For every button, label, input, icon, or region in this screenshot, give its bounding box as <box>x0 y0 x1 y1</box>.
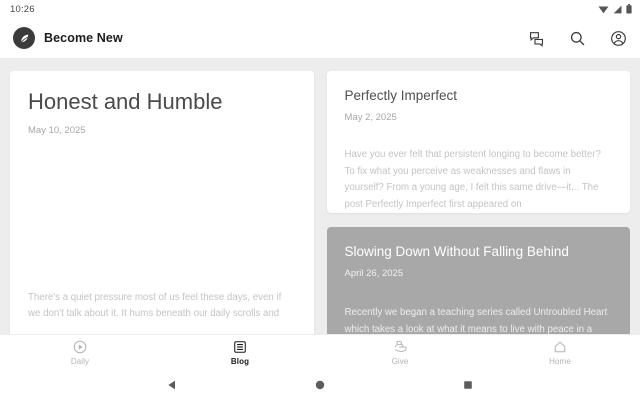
account-icon[interactable] <box>608 28 628 48</box>
post-excerpt-text: Have you ever felt that persistent longi… <box>345 147 613 213</box>
chat-icon[interactable] <box>526 28 546 48</box>
post-date: April 26, 2025 <box>345 268 613 279</box>
brand[interactable]: Become New <box>13 27 123 49</box>
status-bar-clock: 10:26 <box>10 4 35 15</box>
post-title: Slowing Down Without Falling Behind <box>345 244 613 261</box>
home-button[interactable] <box>314 379 326 391</box>
post-card-secondary[interactable]: Perfectly Imperfect May 2, 2025 Have you… <box>327 71 631 213</box>
tab-give[interactable]: Give <box>320 335 480 370</box>
post-excerpt: There's a quiet pressure most of us feel… <box>28 290 296 323</box>
tab-blog[interactable]: Blog <box>160 335 320 370</box>
signal-icon <box>613 5 622 14</box>
play-circle-icon <box>73 340 87 355</box>
app-bar: Become New <box>0 18 640 59</box>
post-excerpt-text: There's a quiet pressure most of us feel… <box>28 290 296 323</box>
giving-hand-icon <box>393 340 408 355</box>
recents-button[interactable] <box>462 379 474 391</box>
app-screen: 10:26 Become Ne <box>0 0 640 400</box>
system-navigation-bar <box>0 370 640 400</box>
post-card-featured[interactable]: Honest and Humble May 10, 2025 There's a… <box>10 71 314 339</box>
post-excerpt: Have you ever felt that persistent longi… <box>345 147 613 213</box>
app-title: Become New <box>44 31 123 45</box>
feed-column-left: Honest and Humble May 10, 2025 There's a… <box>10 71 314 339</box>
back-button[interactable] <box>166 379 178 391</box>
wifi-icon <box>598 5 609 14</box>
article-icon <box>233 340 247 355</box>
feed-column-right: Perfectly Imperfect May 2, 2025 Have you… <box>327 71 631 347</box>
tab-label: Home <box>549 357 571 366</box>
post-date: May 10, 2025 <box>28 125 296 136</box>
tab-home[interactable]: Home <box>480 335 640 370</box>
post-title: Honest and Humble <box>28 88 296 116</box>
tab-label: Give <box>392 357 409 366</box>
battery-icon <box>626 4 632 14</box>
post-title: Perfectly Imperfect <box>345 88 613 105</box>
leaf-logo-icon <box>13 27 35 49</box>
post-card-highlighted[interactable]: Slowing Down Without Falling Behind Apri… <box>327 227 631 347</box>
tab-label: Daily <box>71 357 89 366</box>
search-icon[interactable] <box>567 28 587 48</box>
post-feed[interactable]: Honest and Humble May 10, 2025 There's a… <box>0 59 640 370</box>
post-date: May 2, 2025 <box>345 112 613 123</box>
tab-daily[interactable]: Daily <box>0 335 160 370</box>
status-bar-icons <box>598 4 632 14</box>
home-icon <box>553 340 567 355</box>
status-bar: 10:26 <box>0 0 640 18</box>
tab-label: Blog <box>231 357 249 366</box>
app-bar-actions <box>526 28 628 48</box>
bottom-tab-bar: Daily Blog <box>0 334 640 370</box>
